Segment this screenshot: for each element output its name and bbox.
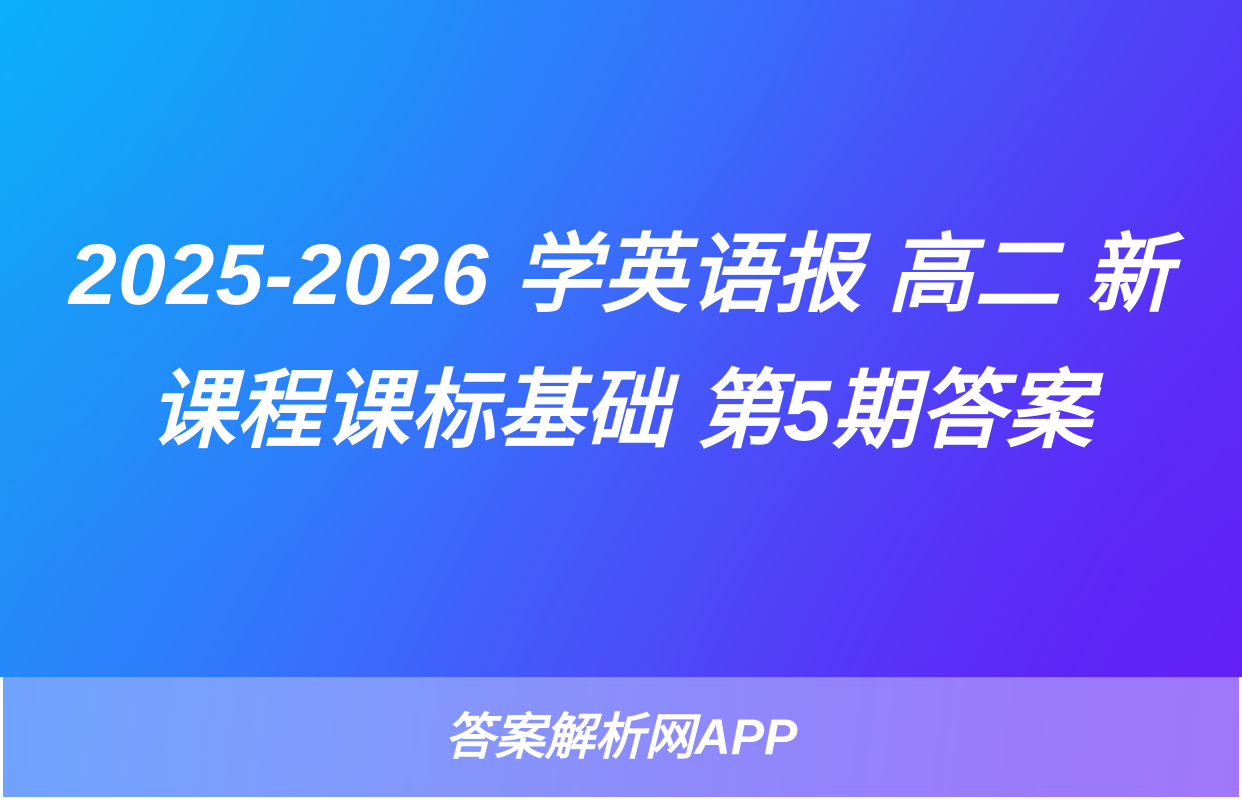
- watermark-bar: 答案解析网APP: [3, 677, 1239, 797]
- headline-container: 2025-2026 学英语报 高二 新课程课标基础 第5期答案: [0, 0, 1242, 677]
- page-title: 2025-2026 学英语报 高二 新课程课标基础 第5期答案: [66, 207, 1176, 479]
- watermark-text: 答案解析网APP: [445, 712, 798, 762]
- cover-card: 2025-2026 学英语报 高二 新课程课标基础 第5期答案 答案解析网APP: [0, 0, 1242, 800]
